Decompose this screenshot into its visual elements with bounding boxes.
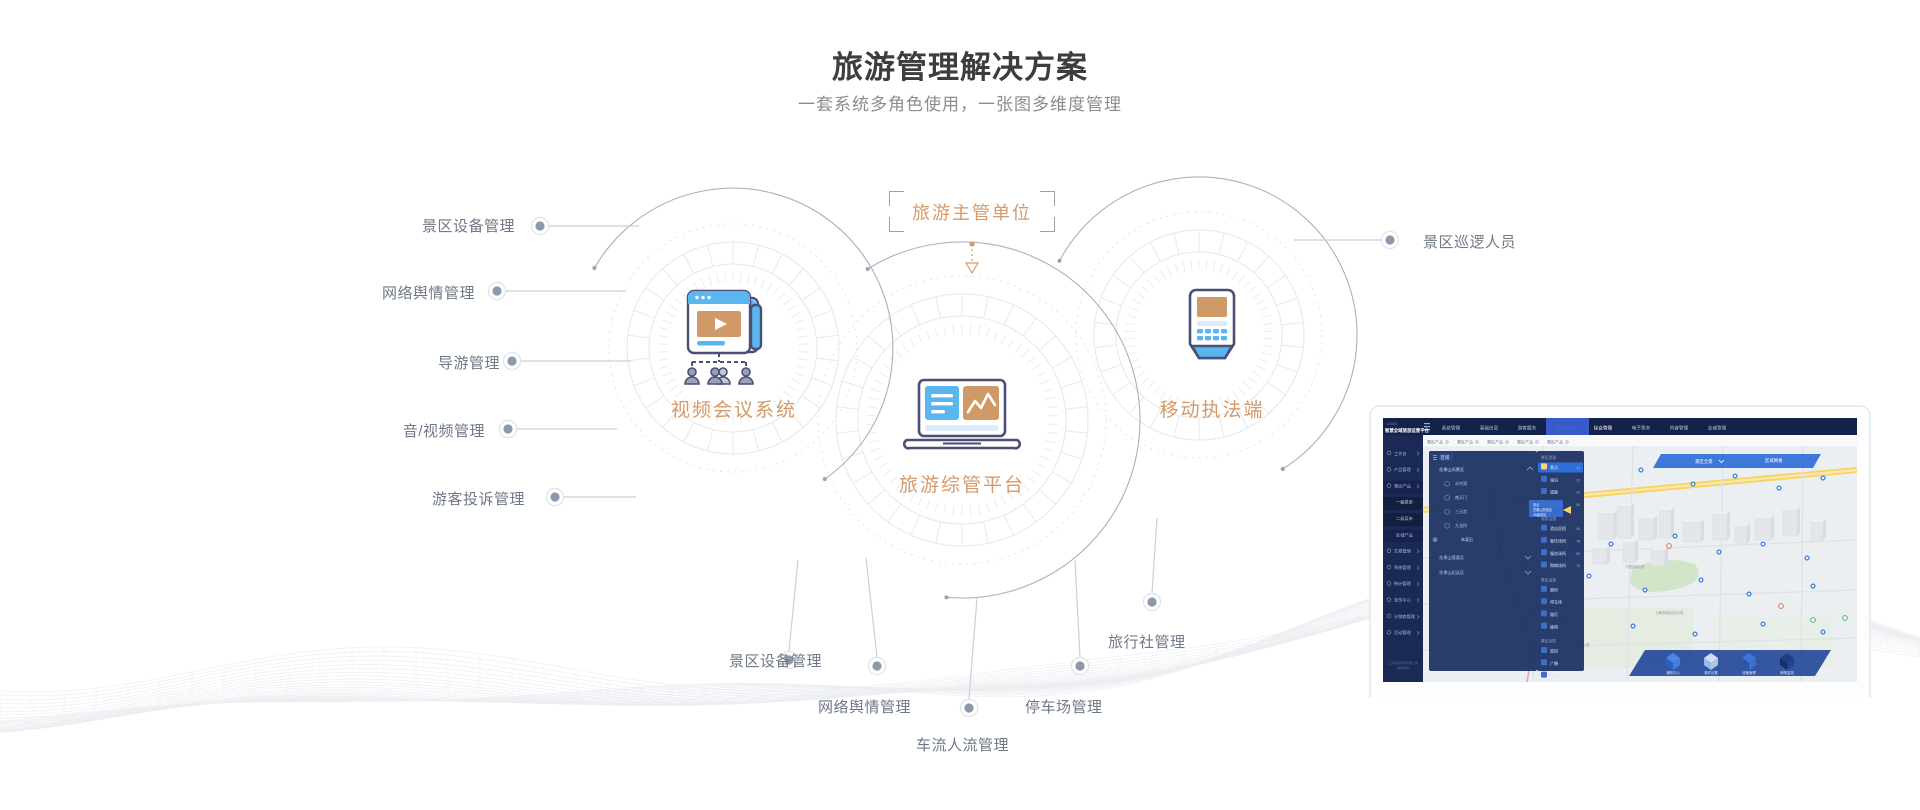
svg-text:区域产品: 区域产品	[1396, 531, 1413, 538]
svg-text:广播: 广播	[1550, 660, 1558, 666]
svg-text:景区产品: 景区产品	[1487, 439, 1503, 445]
svg-text:交易管理: 交易管理	[1394, 548, 1412, 555]
svg-text:中国金融大厦: 中国金融大厦	[1625, 564, 1645, 569]
group-caption-tourism-platform: 旅游综管平台	[852, 470, 1072, 497]
svg-text:通知中心: 通知中心	[1666, 670, 1680, 675]
node-label-left-3[interactable]: 音/视频管理	[260, 420, 485, 441]
svg-text:南天门: 南天门	[1455, 494, 1467, 500]
svg-text:区域网格: 区域网格	[1765, 457, 1783, 464]
node-label-bottom-2[interactable]: 车流人流管理	[916, 734, 1009, 755]
svg-text:厕所: 厕所	[1550, 586, 1558, 592]
page-subtitle: 一套系统多角色使用，一张图多维度管理	[0, 90, 1920, 115]
svg-text:56: 56	[1576, 503, 1580, 507]
svg-text:78: 78	[1576, 540, 1580, 544]
svg-text:景点: 景点	[1550, 464, 1558, 470]
svg-text:景区产品: 景区产品	[1457, 439, 1473, 445]
node-label-right-0[interactable]: 景区巡逻人员	[1423, 231, 1516, 252]
svg-text:上海世博会纪念大厦: 上海世博会纪念大厦	[1655, 610, 1684, 615]
svg-text:分销商管理: 分销商管理	[1394, 613, 1416, 620]
handheld-terminal-icon	[1181, 288, 1243, 372]
svg-text:景区产品: 景区产品	[1517, 439, 1533, 445]
svg-text:水帘洞: 水帘洞	[1455, 480, 1467, 486]
svg-text:江苏某某科技有限公司: 江苏某某科技有限公司	[1388, 660, 1418, 665]
svg-text:监控: 监控	[1550, 648, 1558, 654]
svg-text:23: 23	[1576, 466, 1580, 470]
svg-text:景区资源: 景区资源	[1541, 455, 1556, 460]
svg-text:事件处置: 事件处置	[1704, 670, 1718, 675]
svg-text:餐饮场所: 餐饮场所	[1550, 538, 1566, 544]
svg-text:WiFi: WiFi	[1550, 673, 1558, 678]
node-label-left-0[interactable]: 景区设备管理	[290, 215, 515, 236]
svg-text:宣传中心: 宣传中心	[1394, 597, 1412, 604]
svg-text:电子票务: 电子票务	[1632, 425, 1651, 432]
bracket-bottom-left-icon	[889, 217, 904, 232]
svg-text:内容管理: 内容管理	[1670, 425, 1689, 432]
svg-text:景点: 景点	[1533, 502, 1540, 507]
laptop-mockup: 系统管理基础信息游客服务景区概览综合管理电子票务内容管理全域管理 LOGO智慧全…	[1356, 404, 1920, 698]
video-window-icon	[678, 288, 790, 386]
svg-text:朱葛石: 朱葛石	[1461, 536, 1473, 542]
infographic-page: 旅游管理解决方案 一套系统多角色使用，一张图多维度管理 旅游主管单位	[0, 0, 1920, 810]
svg-text:九龙桥: 九龙桥	[1455, 522, 1467, 528]
svg-text:舆情监测: 舆情监测	[1780, 670, 1794, 675]
svg-text:花果山风景区: 花果山风景区	[1439, 466, 1464, 473]
bracket-top-right-icon	[1040, 191, 1055, 206]
svg-text:景区产品: 景区产品	[1427, 439, 1443, 445]
svg-text:路灯: 路灯	[1550, 611, 1558, 617]
svg-text:工作台: 工作台	[1394, 450, 1407, 457]
svg-text:购物场所: 购物场所	[1550, 562, 1566, 568]
svg-text:景区产品: 景区产品	[1547, 439, 1563, 445]
node-label-left-1[interactable]: 网络舆情管理	[250, 282, 475, 303]
group-caption-mobile-enforcement: 移动执法端	[1102, 395, 1322, 422]
svg-text:景区设施: 景区设施	[1541, 577, 1556, 582]
svg-text:45: 45	[1576, 527, 1580, 531]
svg-text:LOGO: LOGO	[1387, 422, 1398, 426]
connector-lines	[506, 226, 1381, 699]
svg-text:3A级景区: 3A级景区	[1533, 512, 1547, 517]
svg-text:一级菜单: 一级菜单	[1396, 499, 1413, 506]
node-label-bottom-3[interactable]: 停车场管理	[1025, 696, 1103, 717]
svg-text:道路: 道路	[1550, 489, 1558, 495]
svg-text:景区安防: 景区安防	[1541, 639, 1556, 644]
authority-badge[interactable]: 旅游主管单位	[889, 191, 1055, 232]
svg-text:活动管理: 活动管理	[1394, 629, 1412, 636]
svg-text:23: 23	[1576, 491, 1580, 495]
svg-text:景区全景: 景区全景	[1695, 458, 1713, 465]
svg-text:区域: 区域	[1441, 454, 1450, 460]
svg-text:版权所有: 版权所有	[1397, 665, 1409, 670]
svg-text:花果山风景区: 花果山风景区	[1533, 507, 1553, 512]
svg-text:酒店民宿: 酒店民宿	[1550, 525, 1566, 531]
svg-text:95: 95	[1576, 552, 1580, 556]
svg-text:游客服务: 游客服务	[1518, 425, 1537, 432]
svg-text:系统管理: 系统管理	[1442, 425, 1461, 432]
node-label-left-4[interactable]: 游客投诉管理	[290, 488, 525, 509]
svg-text:湖泊: 湖泊	[1550, 476, 1558, 482]
svg-text:全域管理: 全域管理	[1708, 425, 1727, 432]
bracket-bottom-right-icon	[1040, 217, 1055, 232]
node-label-left-2[interactable]: 导游管理	[275, 352, 500, 373]
svg-text:23: 23	[1576, 478, 1580, 482]
svg-text:景区产品: 景区产品	[1394, 482, 1411, 489]
group-caption-video-conference: 视频会议系统	[624, 395, 844, 422]
svg-text:产品管理: 产品管理	[1394, 466, 1412, 473]
node-label-bottom-1[interactable]: 网络舆情管理	[818, 696, 911, 717]
svg-text:停车场: 停车场	[1550, 599, 1562, 605]
bracket-top-left-icon	[889, 191, 904, 206]
svg-text:花果山管委区: 花果山管委区	[1439, 554, 1464, 561]
svg-text:花果山纪县区: 花果山纪县区	[1439, 569, 1464, 576]
svg-text:二级菜单: 二级菜单	[1396, 515, 1413, 522]
authority-label: 旅游主管单位	[912, 199, 1032, 225]
svg-text:三元宫: 三元宫	[1455, 508, 1467, 514]
authority-arrow	[966, 241, 978, 273]
svg-text:智慧全域旅游运营平台: 智慧全域旅游运营平台	[1385, 427, 1430, 434]
svg-text:统计管理: 统计管理	[1394, 580, 1412, 587]
node-label-bottom-0[interactable]: 景区设备管理	[729, 650, 822, 671]
svg-text:系统管理: 系统管理	[1394, 564, 1412, 571]
svg-text:综合管理: 综合管理	[1594, 425, 1613, 432]
connector-dots	[488, 217, 1398, 716]
page-title: 旅游管理解决方案	[0, 42, 1920, 87]
svg-text:服务场所: 服务场所	[1550, 550, 1566, 556]
svg-text:基础信息: 基础信息	[1480, 425, 1499, 432]
svg-text:座椅: 座椅	[1550, 623, 1558, 629]
svg-text:76: 76	[1576, 564, 1580, 568]
laptop-dashboard-icon	[903, 378, 1021, 454]
svg-text:设备管理: 设备管理	[1742, 670, 1756, 675]
node-label-bottom-4[interactable]: 旅行社管理	[1108, 631, 1186, 652]
